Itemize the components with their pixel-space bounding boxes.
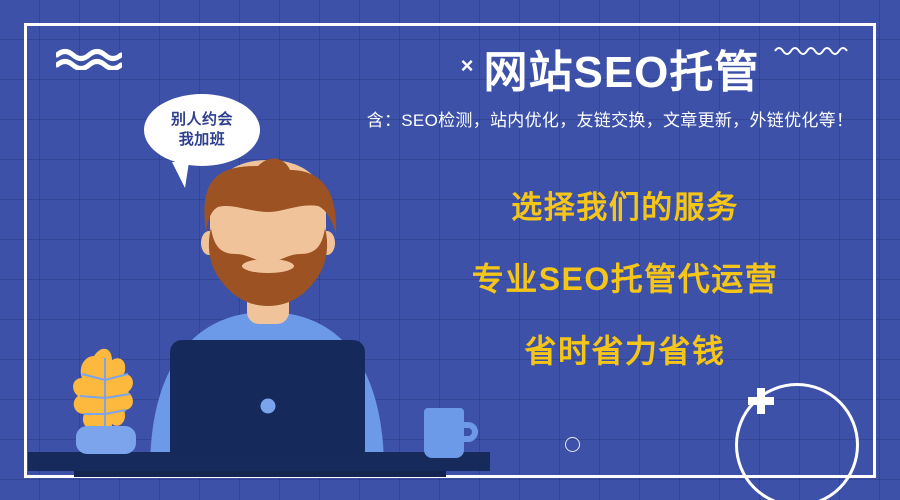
potted-leaf-plant-illustration <box>56 340 156 460</box>
mug-body <box>424 408 464 458</box>
speech-bubble-line-1: 别人约会 <box>171 110 233 130</box>
circle-logo-icon <box>260 398 275 413</box>
title-text: 网站SEO托管 <box>483 48 759 97</box>
desk-edge <box>74 471 446 477</box>
speech-bubble: 别人约会 我加班 <box>144 94 260 166</box>
pitch-line-3: 省时省力省钱 <box>430 335 820 367</box>
title-x-mark: × <box>461 53 474 78</box>
coffee-mug-illustration <box>424 408 486 460</box>
seo-service-banner: 别人约会 我加班 ×网站SEO托管 含：SEO检测，站内优化，友链交换，文章更新… <box>0 0 900 500</box>
laptop-back-illustration <box>170 340 365 455</box>
pitch-line-1: 选择我们的服务 <box>430 192 820 223</box>
mug-handle <box>460 422 478 442</box>
pitch-line-2: 专业SEO托管代运营 <box>430 263 820 295</box>
small-circle-outline-icon <box>565 437 580 452</box>
speech-bubble-line-2: 我加班 <box>179 130 226 150</box>
speech-bubble-tail <box>172 162 189 188</box>
plus-icon <box>748 388 774 414</box>
pitch-block: 选择我们的服务 专业SEO托管代运营 省时省力省钱 <box>430 192 820 367</box>
